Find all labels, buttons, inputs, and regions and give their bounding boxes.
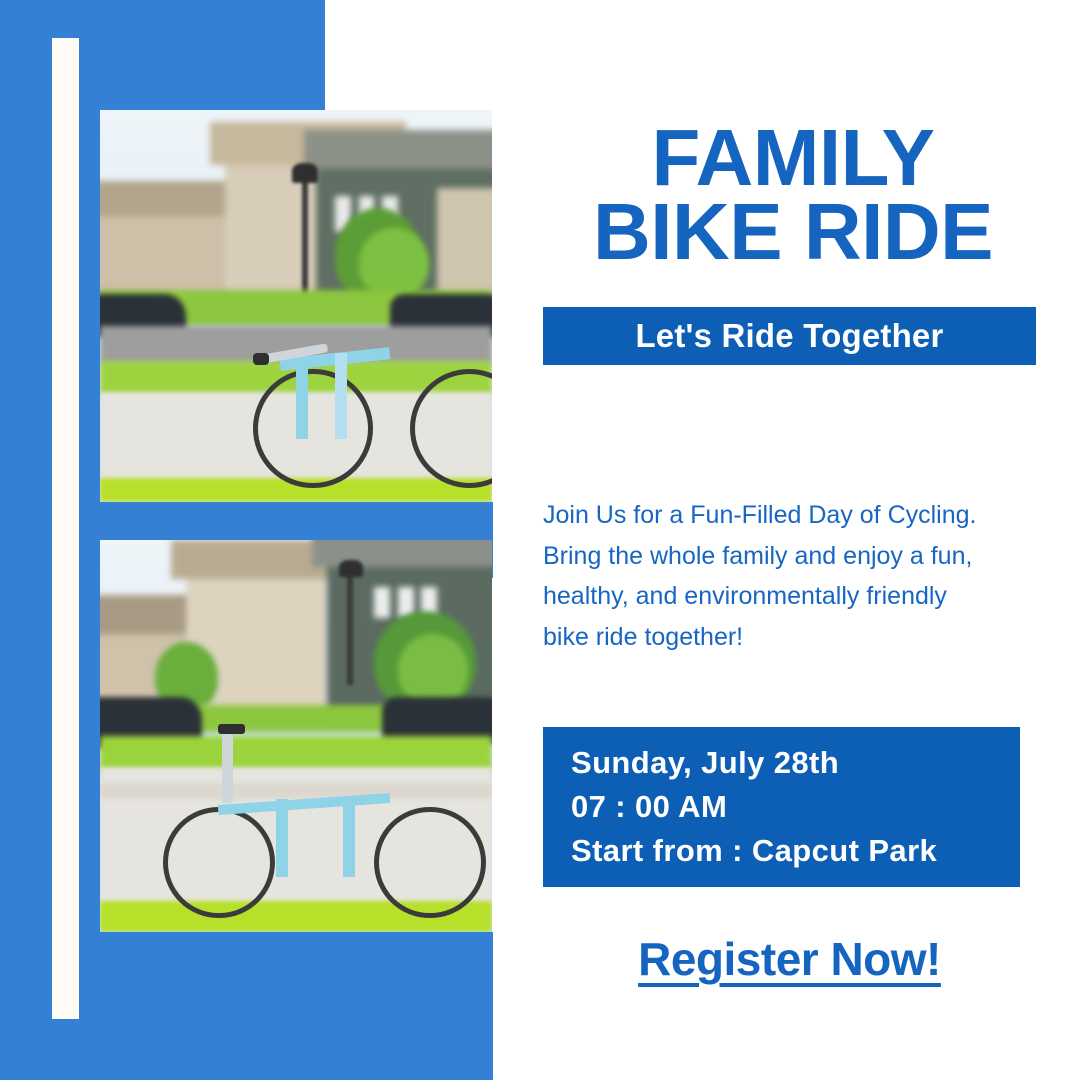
register-now-link[interactable]: Register Now! (638, 933, 941, 985)
photo-family-with-bike-bottom (100, 540, 492, 932)
description-line-3: healthy, and environmentally friendly (543, 576, 1043, 617)
photo-family-with-bike-top (100, 110, 492, 502)
description-line-4: bike ride together! (543, 617, 1043, 658)
cream-accent-stripe (52, 38, 79, 1019)
subtitle-banner: Let's Ride Together (543, 307, 1036, 365)
event-details-box: Sunday, July 28th 07 : 00 AM Start from … (543, 727, 1020, 887)
cta-container: Register Now! (543, 932, 1036, 986)
event-location: Start from : Capcut Park (543, 829, 1020, 873)
subtitle-text: Let's Ride Together (635, 317, 943, 355)
description-line-2: Bring the whole family and enjoy a fun, (543, 536, 1043, 577)
title-line-2: BIKE RIDE (543, 195, 1043, 269)
title-line-1: FAMILY (543, 121, 1043, 195)
description-text: Join Us for a Fun-Filled Day of Cycling.… (543, 495, 1043, 657)
description-line-1: Join Us for a Fun-Filled Day of Cycling. (543, 495, 1043, 536)
event-date: Sunday, July 28th (543, 741, 1020, 785)
poster-canvas: FAMILY BIKE RIDE Let's Ride Together Joi… (0, 0, 1080, 1080)
page-title: FAMILY BIKE RIDE (543, 121, 1043, 268)
event-time: 07 : 00 AM (543, 785, 1020, 829)
content-column: FAMILY BIKE RIDE Let's Ride Together Joi… (527, 0, 1080, 1080)
